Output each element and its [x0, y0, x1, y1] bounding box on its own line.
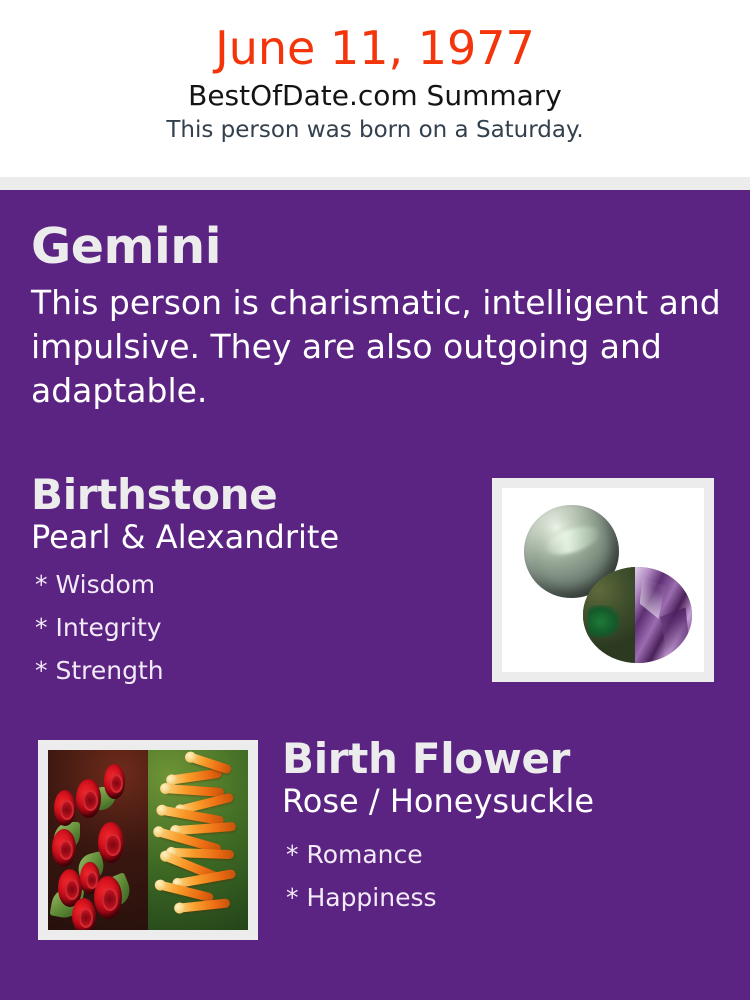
roses-and-honeysuckle-photo: [48, 750, 248, 930]
list-item: * Wisdom: [35, 563, 481, 606]
zodiac-description: This person is charismatic, intelligent …: [31, 271, 721, 413]
pearl-and-alexandrite-photo: [502, 488, 704, 672]
zodiac-name: Gemini: [31, 222, 721, 271]
birth-flower-section: Birth Flower Rose / Honeysuckle * Romanc…: [282, 738, 732, 919]
list-item: * Romance: [286, 833, 732, 876]
red-roses-half: [48, 750, 148, 930]
birth-flower-subtitle: Rose / Honeysuckle: [282, 780, 732, 819]
alexandrite-gem: [583, 567, 692, 663]
list-item: * Integrity: [35, 606, 481, 649]
site-name: BestOfDate.com Summary: [0, 72, 750, 110]
birthstone-image-frame: [492, 478, 714, 682]
birth-flower-image-frame: [38, 740, 258, 940]
birthday-summary-card: June 11, 1977 BestOfDate.com Summary Thi…: [0, 0, 750, 1000]
birthstone-section: Birthstone Pearl & Alexandrite * Wisdom …: [31, 474, 481, 692]
born-day-note: This person was born on a Saturday.: [0, 111, 750, 142]
alexandrite-rough-half: [583, 567, 635, 663]
birth-flower-trait-list: * Romance * Happiness: [282, 819, 732, 919]
list-item: * Happiness: [286, 876, 732, 919]
birth-flower-title: Birth Flower: [282, 738, 732, 780]
list-item: * Strength: [35, 649, 481, 692]
alexandrite-faceted-half: [635, 567, 692, 663]
zodiac-section: Gemini This person is charismatic, intel…: [31, 222, 721, 413]
page-title-date: June 11, 1977: [0, 0, 750, 72]
header: June 11, 1977 BestOfDate.com Summary Thi…: [0, 0, 750, 177]
birthstone-subtitle: Pearl & Alexandrite: [31, 516, 481, 555]
header-divider: [0, 177, 750, 190]
birthstone-trait-list: * Wisdom * Integrity * Strength: [31, 555, 481, 692]
details-panel: Gemini This person is charismatic, intel…: [0, 190, 750, 1000]
orange-honeysuckle-half: [148, 750, 248, 930]
birthstone-title: Birthstone: [31, 474, 481, 516]
